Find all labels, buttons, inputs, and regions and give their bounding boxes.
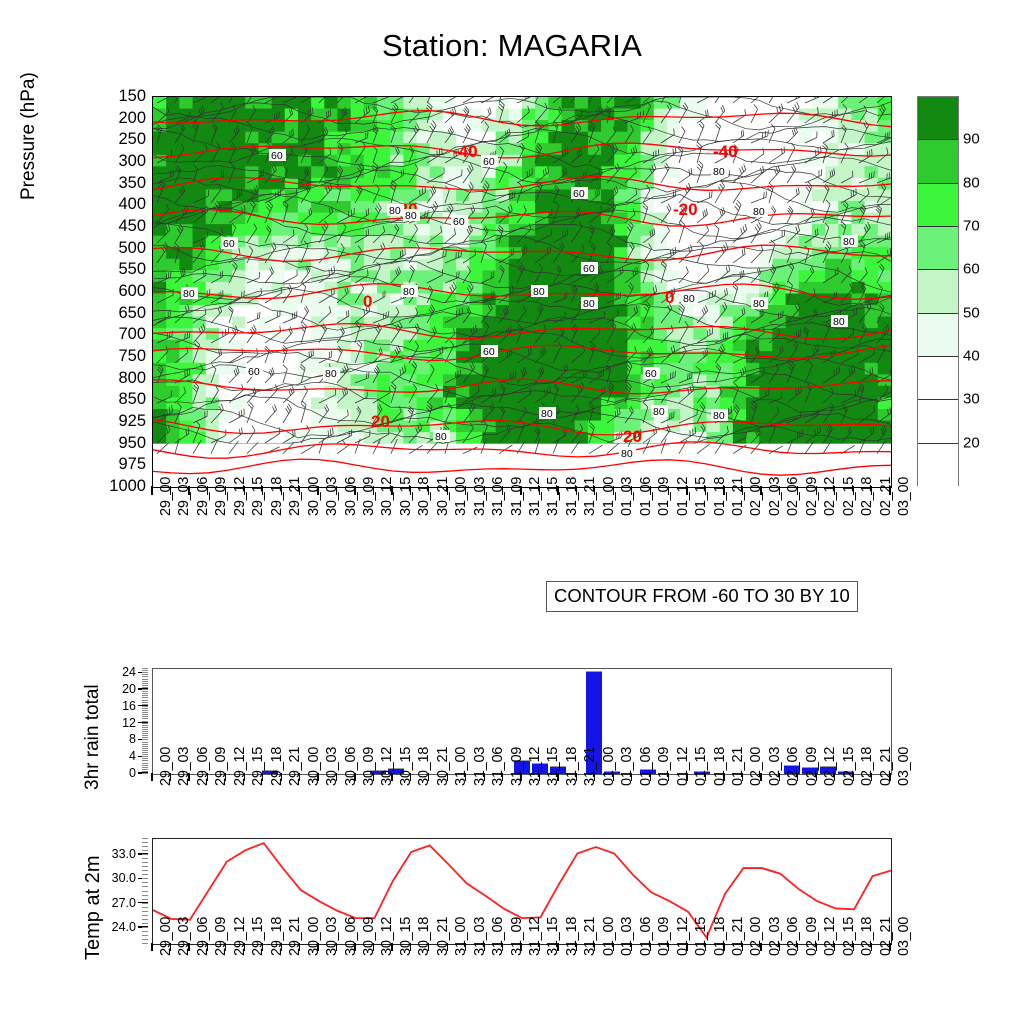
time-tick xyxy=(520,773,521,781)
time-tick-label: 29_12 xyxy=(232,917,248,956)
humidity-cell xyxy=(667,259,681,271)
temp-tick-label: 33.0 xyxy=(112,848,136,861)
rain-minor-tick xyxy=(142,697,148,698)
humidity-cell xyxy=(799,201,813,213)
humidity-cell xyxy=(443,97,457,109)
rain-minor-tick xyxy=(142,727,148,728)
humidity-cell xyxy=(179,259,193,271)
time-tick-label: 02_00 xyxy=(748,917,764,956)
humidity-cell xyxy=(851,270,865,282)
temperature-contour-label: 0 xyxy=(665,288,674,307)
humidity-cell xyxy=(575,397,589,409)
humidity-cell xyxy=(667,155,681,167)
time-tick-label: 29_12 xyxy=(232,747,248,786)
rain-minor-tick xyxy=(142,733,148,734)
humidity-cell xyxy=(351,351,365,363)
pressure-tick-label: 1000 xyxy=(109,478,146,495)
colorbar-band xyxy=(918,314,958,357)
humidity-cell xyxy=(430,213,444,225)
humidity-cell xyxy=(245,282,259,294)
time-tick-label: 01_03 xyxy=(619,917,635,956)
rain-minor-tick xyxy=(142,668,148,669)
humidity-cell xyxy=(482,247,496,259)
humidity-cell xyxy=(786,374,800,386)
humidity-cell xyxy=(456,120,470,132)
time-tick xyxy=(336,943,337,951)
rain-minor-tick xyxy=(142,721,148,722)
humidity-cell xyxy=(482,120,496,132)
humidity-cell xyxy=(759,120,773,132)
humidity-cell xyxy=(153,351,167,363)
humidity-cell xyxy=(258,189,272,201)
humidity-cell xyxy=(614,97,628,109)
time-tick-label: 30_15 xyxy=(398,747,414,786)
humidity-cell xyxy=(838,132,852,144)
humidity-cell xyxy=(496,236,510,248)
humidity-cell xyxy=(654,421,668,433)
humidity-cell xyxy=(153,317,167,329)
humidity-cell xyxy=(338,236,352,248)
humidity-contour-label: 80 xyxy=(841,235,858,248)
humidity-cell xyxy=(298,270,312,282)
time-tick xyxy=(207,486,208,495)
temp-minor-tick xyxy=(142,891,148,892)
time-tick xyxy=(317,486,318,495)
humidity-cell xyxy=(825,120,839,132)
time-tick xyxy=(281,773,282,781)
time-tick xyxy=(650,943,651,951)
humidity-cell xyxy=(179,409,193,421)
humidity-cell xyxy=(535,132,549,144)
time-tick xyxy=(502,943,503,951)
time-tick-label: 01_06 xyxy=(638,477,654,516)
pressure-tick-label: 300 xyxy=(118,153,146,170)
temp-minor-tick xyxy=(142,838,148,839)
humidity-cell xyxy=(851,224,865,236)
time-tick xyxy=(613,486,614,495)
time-tick-label: 31_00 xyxy=(453,917,469,956)
time-tick xyxy=(317,943,318,951)
humidity-cell xyxy=(258,386,272,398)
humidity-cell xyxy=(707,189,721,201)
rain-minor-tick xyxy=(142,695,148,696)
time-tick-label: 30_21 xyxy=(435,917,451,956)
time-tick-label: 01_00 xyxy=(601,477,617,516)
humidity-cell xyxy=(693,363,707,375)
rain-minor-tick xyxy=(142,746,148,747)
humidity-cell xyxy=(509,236,523,248)
time-tick xyxy=(354,773,355,781)
humidity-cell xyxy=(720,201,734,213)
humidity-contour-label: 80 xyxy=(619,447,636,460)
time-tick-label: 01_03 xyxy=(619,477,635,516)
time-tick-label: 01_12 xyxy=(675,747,691,786)
temp-minor-tick xyxy=(142,874,148,875)
rain-tick-label: 0 xyxy=(129,767,136,780)
time-tick xyxy=(262,943,263,951)
humidity-cell xyxy=(285,293,299,305)
humidity-cell xyxy=(272,109,286,121)
time-tick xyxy=(797,773,798,781)
humidity-cell xyxy=(799,305,813,317)
humidity-cell xyxy=(865,259,879,271)
page-title: Station: MAGARIA xyxy=(0,28,1024,64)
humidity-cell xyxy=(219,155,233,167)
humidity-cell xyxy=(693,132,707,144)
humidity-cell xyxy=(311,189,325,201)
humidity-cell xyxy=(153,166,167,178)
humidity-cell xyxy=(272,374,286,386)
humidity-cell xyxy=(575,132,589,144)
rain-minor-tick xyxy=(142,767,148,768)
colorbar-band xyxy=(918,97,958,140)
time-tick-label: 02_15 xyxy=(841,747,857,786)
time-tick xyxy=(244,773,245,781)
humidity-cell xyxy=(403,305,417,317)
humidity-cell xyxy=(364,178,378,190)
temp-minor-tick xyxy=(142,882,148,883)
humidity-cell xyxy=(799,189,813,201)
time-tick xyxy=(705,943,706,951)
humidity-cell xyxy=(338,409,352,421)
temperature-contour-label: -40 xyxy=(453,142,478,161)
humidity-contour-label: 60 xyxy=(581,262,598,275)
time-tick-label: 31_09 xyxy=(509,477,525,516)
humidity-cell xyxy=(285,224,299,236)
time-tick xyxy=(686,773,687,781)
humidity-cell xyxy=(851,351,865,363)
humidity-cell xyxy=(654,201,668,213)
temp-minor-tick xyxy=(142,939,148,940)
humidity-cell xyxy=(865,305,879,317)
time-tick xyxy=(428,943,429,951)
humidity-cell xyxy=(588,132,602,144)
rain-minor-tick xyxy=(142,708,148,709)
time-tick-label: 02_18 xyxy=(859,747,875,786)
time-tick-label: 29_18 xyxy=(269,917,285,956)
humidity-cell xyxy=(812,386,826,398)
time-tick-label: 02_18 xyxy=(859,917,875,956)
time-tick xyxy=(889,943,890,951)
time-tick-label: 31_03 xyxy=(472,747,488,786)
humidity-cell xyxy=(179,120,193,132)
humidity-cell xyxy=(179,317,193,329)
time-tick-label: 31_00 xyxy=(453,747,469,786)
time-tick xyxy=(373,486,374,495)
time-tick-label: 29_00 xyxy=(158,747,174,786)
humidity-cell xyxy=(878,282,891,294)
time-tick xyxy=(760,943,761,951)
rain-minor-tick xyxy=(142,700,148,701)
humidity-cell xyxy=(298,132,312,144)
time-tick xyxy=(428,773,429,781)
humidity-cell xyxy=(232,213,246,225)
rain-minor-tick xyxy=(142,769,148,770)
time-tick xyxy=(188,486,189,495)
humidity-cell xyxy=(641,270,655,282)
humidity-cell xyxy=(232,178,246,190)
time-tick xyxy=(281,486,282,495)
humidity-cell xyxy=(509,351,523,363)
humidity-cell xyxy=(298,328,312,340)
humidity-cell xyxy=(258,340,272,352)
humidity-cell xyxy=(865,363,879,375)
rain-minor-tick xyxy=(142,683,148,684)
humidity-cell xyxy=(878,351,891,363)
time-tick-label: 30_21 xyxy=(435,747,451,786)
humidity-cell xyxy=(509,189,523,201)
humidity-cell xyxy=(456,236,470,248)
time-tick-label: 29_21 xyxy=(287,747,303,786)
time-tick-label: 02_21 xyxy=(878,917,894,956)
time-tick-label: 29_06 xyxy=(195,477,211,516)
humidity-cell xyxy=(812,132,826,144)
humidity-cell xyxy=(680,421,694,433)
temp-minor-tick xyxy=(142,911,148,912)
humidity-cell xyxy=(772,178,786,190)
humidity-cell xyxy=(443,189,457,201)
humidity-cell xyxy=(786,293,800,305)
time-tick-label: 31_18 xyxy=(564,917,580,956)
time-tick-label: 02_15 xyxy=(841,477,857,516)
humidity-contour-label: 80 xyxy=(681,292,698,305)
time-tick xyxy=(207,773,208,781)
humidity-cell xyxy=(614,189,628,201)
rain-minor-tick xyxy=(142,712,148,713)
humidity-contour-label: 80 xyxy=(581,297,598,310)
pressure-tick-label: 250 xyxy=(118,131,146,148)
humidity-cell xyxy=(285,120,299,132)
humidity-cell xyxy=(258,120,272,132)
humidity-cell xyxy=(153,270,167,282)
humidity-cell xyxy=(509,132,523,144)
colorbar-band xyxy=(918,400,958,443)
time-tick-label: 31_00 xyxy=(453,477,469,516)
colorbar-band xyxy=(918,140,958,183)
humidity-cell xyxy=(720,120,734,132)
time-tick-label: 03_00 xyxy=(896,747,912,786)
time-tick-label: 02_09 xyxy=(804,747,820,786)
humidity-cell xyxy=(430,189,444,201)
time-tick xyxy=(244,486,245,495)
humidity-cell xyxy=(258,397,272,409)
humidity-cell xyxy=(469,166,483,178)
temp-minor-tick xyxy=(142,935,148,936)
time-tick xyxy=(853,943,854,951)
humidity-cell xyxy=(812,224,826,236)
humidity-cell xyxy=(430,305,444,317)
humidity-cell xyxy=(601,189,615,201)
humidity-cell xyxy=(720,340,734,352)
humidity-cell xyxy=(456,270,470,282)
humidity-cell xyxy=(430,374,444,386)
humidity-cell xyxy=(258,109,272,121)
temp-minor-tick xyxy=(142,850,148,851)
sounding-contour-panel[interactable]: -40-40-20-200020206060606060606060608080… xyxy=(152,96,892,488)
time-tick xyxy=(779,943,780,951)
humidity-cell xyxy=(430,120,444,132)
humidity-cell xyxy=(641,132,655,144)
humidity-cell xyxy=(469,236,483,248)
time-tick xyxy=(299,486,300,495)
humidity-cell xyxy=(377,132,391,144)
humidity-cell xyxy=(641,432,655,444)
rain-minor-tick xyxy=(142,725,148,726)
rain-minor-tick xyxy=(142,754,148,755)
time-tick-label: 31_06 xyxy=(490,917,506,956)
humidity-cell xyxy=(548,293,562,305)
humidity-cell xyxy=(324,317,338,329)
time-tick xyxy=(631,486,632,495)
humidity-cell xyxy=(509,247,523,259)
humidity-cell xyxy=(193,386,207,398)
humidity-cell xyxy=(535,270,549,282)
humidity-cell xyxy=(377,120,391,132)
rain-minor-tick xyxy=(142,718,148,719)
time-tick xyxy=(871,486,872,495)
time-tick-label: 01_09 xyxy=(656,747,672,786)
humidity-cell xyxy=(812,282,826,294)
time-tick-label: 02_21 xyxy=(878,747,894,786)
humidity-cell xyxy=(680,109,694,121)
time-tick xyxy=(354,486,355,495)
time-tick-label: 31_09 xyxy=(509,747,525,786)
humidity-cell xyxy=(377,328,391,340)
humidity-contour-label: 80 xyxy=(711,409,728,422)
humidity-cell xyxy=(720,224,734,236)
time-tick-label: 29_09 xyxy=(213,917,229,956)
humidity-cell xyxy=(324,270,338,282)
time-tick xyxy=(705,486,706,495)
humidity-cell xyxy=(522,143,536,155)
time-tick-label: 30_06 xyxy=(343,477,359,516)
time-tick xyxy=(742,773,743,781)
humidity-cell xyxy=(627,155,641,167)
time-tick-label: 30_15 xyxy=(398,917,414,956)
humidity-cell xyxy=(338,293,352,305)
time-tick-label: 29_03 xyxy=(176,477,192,516)
humidity-cell xyxy=(548,97,562,109)
temp-minor-tick xyxy=(142,862,148,863)
humidity-contour-label: 60 xyxy=(481,345,498,358)
temp-tick-label: 30.0 xyxy=(112,872,136,885)
time-tick xyxy=(391,943,392,951)
time-tick xyxy=(299,773,300,781)
humidity-cell xyxy=(627,282,641,294)
time-tick xyxy=(594,943,595,951)
humidity-cell xyxy=(786,224,800,236)
humidity-cell xyxy=(166,386,180,398)
time-tick xyxy=(594,773,595,781)
humidity-cell xyxy=(786,397,800,409)
humidity-cell xyxy=(614,109,628,121)
humidity-cell xyxy=(838,213,852,225)
humidity-cell xyxy=(430,236,444,248)
time-tick xyxy=(484,486,485,495)
humidity-cell xyxy=(878,305,891,317)
humidity-cell xyxy=(403,432,417,444)
humidity-cell xyxy=(535,351,549,363)
humidity-cell xyxy=(548,155,562,167)
humidity-cell xyxy=(522,397,536,409)
humidity-cell xyxy=(733,224,747,236)
rain-minor-tick xyxy=(142,674,148,675)
time-tick xyxy=(502,773,503,781)
time-tick-label: 02_12 xyxy=(822,747,838,786)
time-tick xyxy=(391,486,392,495)
humidity-cell xyxy=(219,213,233,225)
colorbar-tick-label: 80 xyxy=(963,174,980,191)
humidity-cell xyxy=(627,166,641,178)
humidity-cell xyxy=(285,317,299,329)
humidity-cell xyxy=(746,247,760,259)
humidity-contour-label: 80 xyxy=(401,285,418,298)
humidity-cell xyxy=(482,305,496,317)
humidity-cell xyxy=(417,166,431,178)
humidity-cell xyxy=(865,386,879,398)
humidity-cell xyxy=(417,363,431,375)
pressure-tick-label: 350 xyxy=(118,175,146,192)
humidity-cell xyxy=(786,363,800,375)
rain-minor-tick xyxy=(142,748,148,749)
time-tick-label: 31_09 xyxy=(509,917,525,956)
humidity-cell xyxy=(364,386,378,398)
time-tick xyxy=(520,943,521,951)
time-tick xyxy=(557,773,558,781)
time-tick-label: 31_12 xyxy=(527,477,543,516)
time-tick xyxy=(151,773,152,781)
rain-tick-label: 8 xyxy=(129,733,136,746)
time-tick xyxy=(742,486,743,495)
time-tick-label: 01_09 xyxy=(656,477,672,516)
humidity-cell xyxy=(509,109,523,121)
time-tick xyxy=(299,943,300,951)
temp-minor-tick xyxy=(142,899,148,900)
humidity-cell xyxy=(825,340,839,352)
humidity-cell xyxy=(430,166,444,178)
temp-minor-tick xyxy=(142,846,148,847)
time-tick-label: 30_09 xyxy=(361,917,377,956)
time-tick-label: 01_06 xyxy=(638,747,654,786)
time-tick-label: 02_06 xyxy=(785,477,801,516)
humidity-cell xyxy=(206,305,220,317)
time-tick-label: 29_15 xyxy=(250,747,266,786)
time-tick xyxy=(410,773,411,781)
time-tick xyxy=(557,943,558,951)
humidity-cell xyxy=(469,386,483,398)
humidity-cell xyxy=(166,351,180,363)
time-tick-label: 01_18 xyxy=(712,747,728,786)
time-tick xyxy=(889,773,890,781)
humidity-cell xyxy=(865,317,879,329)
humidity-cell xyxy=(562,166,576,178)
humidity-cell xyxy=(746,120,760,132)
humidity-cell xyxy=(535,213,549,225)
humidity-cell xyxy=(245,397,259,409)
colorbar-tick-label: 30 xyxy=(963,391,980,408)
time-tick xyxy=(576,486,577,495)
humidity-colorbar[interactable] xyxy=(917,96,959,486)
humidity-cell xyxy=(627,236,641,248)
humidity-cell xyxy=(865,213,879,225)
humidity-cell xyxy=(166,259,180,271)
temp-minor-tick xyxy=(142,903,148,904)
humidity-cell xyxy=(311,213,325,225)
time-tick-label: 02_09 xyxy=(804,917,820,956)
humidity-cell xyxy=(812,363,826,375)
pressure-tick-label: 450 xyxy=(118,218,146,235)
temp-minor-tick xyxy=(142,915,148,916)
